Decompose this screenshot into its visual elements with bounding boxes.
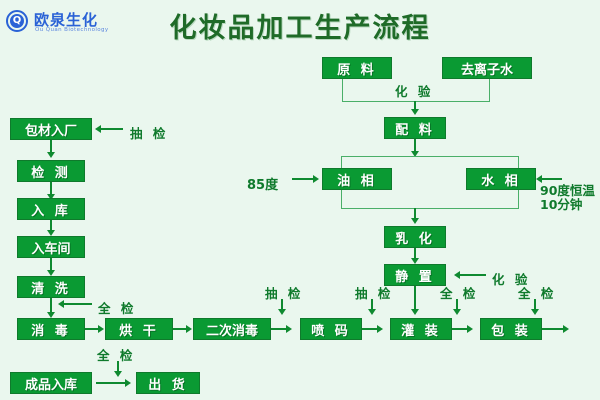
arrowhead-packing bbox=[467, 325, 473, 333]
connector-sterilize-drying bbox=[85, 328, 99, 330]
connector-packing-out bbox=[542, 328, 564, 330]
arrowhead-sample-check-spray bbox=[278, 309, 286, 315]
connector-temp-oil bbox=[292, 178, 314, 180]
arrowhead-inbound-check bbox=[95, 125, 101, 133]
label-lab-test-standing: 化 验 bbox=[492, 269, 530, 288]
label-lab-test-top: 化 验 bbox=[395, 81, 433, 100]
connector-lab-test-standing bbox=[458, 274, 486, 276]
arrowhead-standing-filling bbox=[411, 309, 419, 315]
box-batching[interactable]: 配 料 bbox=[384, 117, 446, 139]
box-drying[interactable]: 烘 干 bbox=[105, 318, 173, 340]
label-full-check-washing: 全 检 bbox=[98, 298, 136, 317]
connector-spray-filling bbox=[362, 328, 378, 330]
page-title: 化妆品加工生产流程 bbox=[0, 6, 600, 45]
arrowhead-shipment bbox=[125, 379, 131, 387]
box-finished-goods-in[interactable]: 成品入库 bbox=[10, 372, 92, 394]
box-warehouse-in[interactable]: 入 库 bbox=[17, 198, 85, 220]
box-raw-material[interactable]: 原 料 bbox=[322, 57, 392, 79]
flowchart-canvas: Q 欧泉生化 Ou Quan Biotechnology 化妆品加工生产流程 包… bbox=[0, 0, 600, 400]
arrowhead-lab-test-standing bbox=[454, 271, 460, 279]
box-workshop-in[interactable]: 入车间 bbox=[17, 236, 85, 258]
connector-temp-water bbox=[540, 178, 562, 180]
box-washing[interactable]: 清 洗 bbox=[17, 276, 85, 298]
arrowhead-spray bbox=[286, 325, 292, 333]
box-packing[interactable]: 包 装 bbox=[480, 318, 542, 340]
connector-drying-second-sterilize bbox=[173, 328, 187, 330]
label-temp-water: 90度恒温10分钟 bbox=[540, 184, 598, 212]
label-sample-check-inbound: 抽 检 bbox=[130, 123, 168, 142]
arrowhead-batching bbox=[411, 109, 419, 115]
arrowhead-sample-check-filling bbox=[368, 309, 376, 315]
connector-standing-filling bbox=[414, 286, 416, 310]
arrowhead-second-sterilize bbox=[186, 325, 192, 333]
box-second-sterilize[interactable]: 二次消毒 bbox=[193, 318, 271, 340]
label-temp-oil: 85度 bbox=[247, 174, 278, 193]
connector-inbound-check bbox=[99, 128, 123, 130]
connector-second-sterilize-spray bbox=[271, 328, 287, 330]
arrowhead-temp-water bbox=[536, 175, 542, 183]
box-emulsify[interactable]: 乳 化 bbox=[384, 226, 446, 248]
arrowhead-inspection bbox=[47, 152, 55, 158]
arrowhead-drying bbox=[98, 325, 104, 333]
box-water-phase[interactable]: 水 相 bbox=[466, 168, 536, 190]
box-filling[interactable]: 灌 装 bbox=[390, 318, 452, 340]
arrowhead-full-check-filling bbox=[453, 309, 461, 315]
arrowhead-full-check-washing bbox=[58, 300, 64, 308]
box-shipment[interactable]: 出 货 bbox=[136, 372, 200, 394]
arrowhead-filling bbox=[377, 325, 383, 333]
label-sample-check-spray: 抽 检 bbox=[265, 283, 303, 302]
arrowhead-full-check-shipment bbox=[114, 371, 122, 377]
box-inspection[interactable]: 检 测 bbox=[17, 160, 85, 182]
arrowhead-temp-oil bbox=[313, 175, 319, 183]
box-oil-phase[interactable]: 油 相 bbox=[322, 168, 392, 190]
box-sterilize[interactable]: 消 毒 bbox=[17, 318, 85, 340]
arrowhead-full-check-packing bbox=[531, 309, 539, 315]
box-packaging-inbound[interactable]: 包材入厂 bbox=[10, 118, 92, 140]
arrowhead-emulsify bbox=[411, 218, 419, 224]
connector-finished-shipment bbox=[96, 382, 126, 384]
arrowhead-packing-out bbox=[563, 325, 569, 333]
box-standing[interactable]: 静 置 bbox=[384, 264, 446, 286]
bracket-phase-join bbox=[341, 190, 519, 209]
box-deionized-water[interactable]: 去离子水 bbox=[442, 57, 532, 79]
connector-filling-packing bbox=[452, 328, 468, 330]
connector-full-check-washing bbox=[62, 303, 92, 305]
box-code-spray[interactable]: 喷 码 bbox=[300, 318, 362, 340]
